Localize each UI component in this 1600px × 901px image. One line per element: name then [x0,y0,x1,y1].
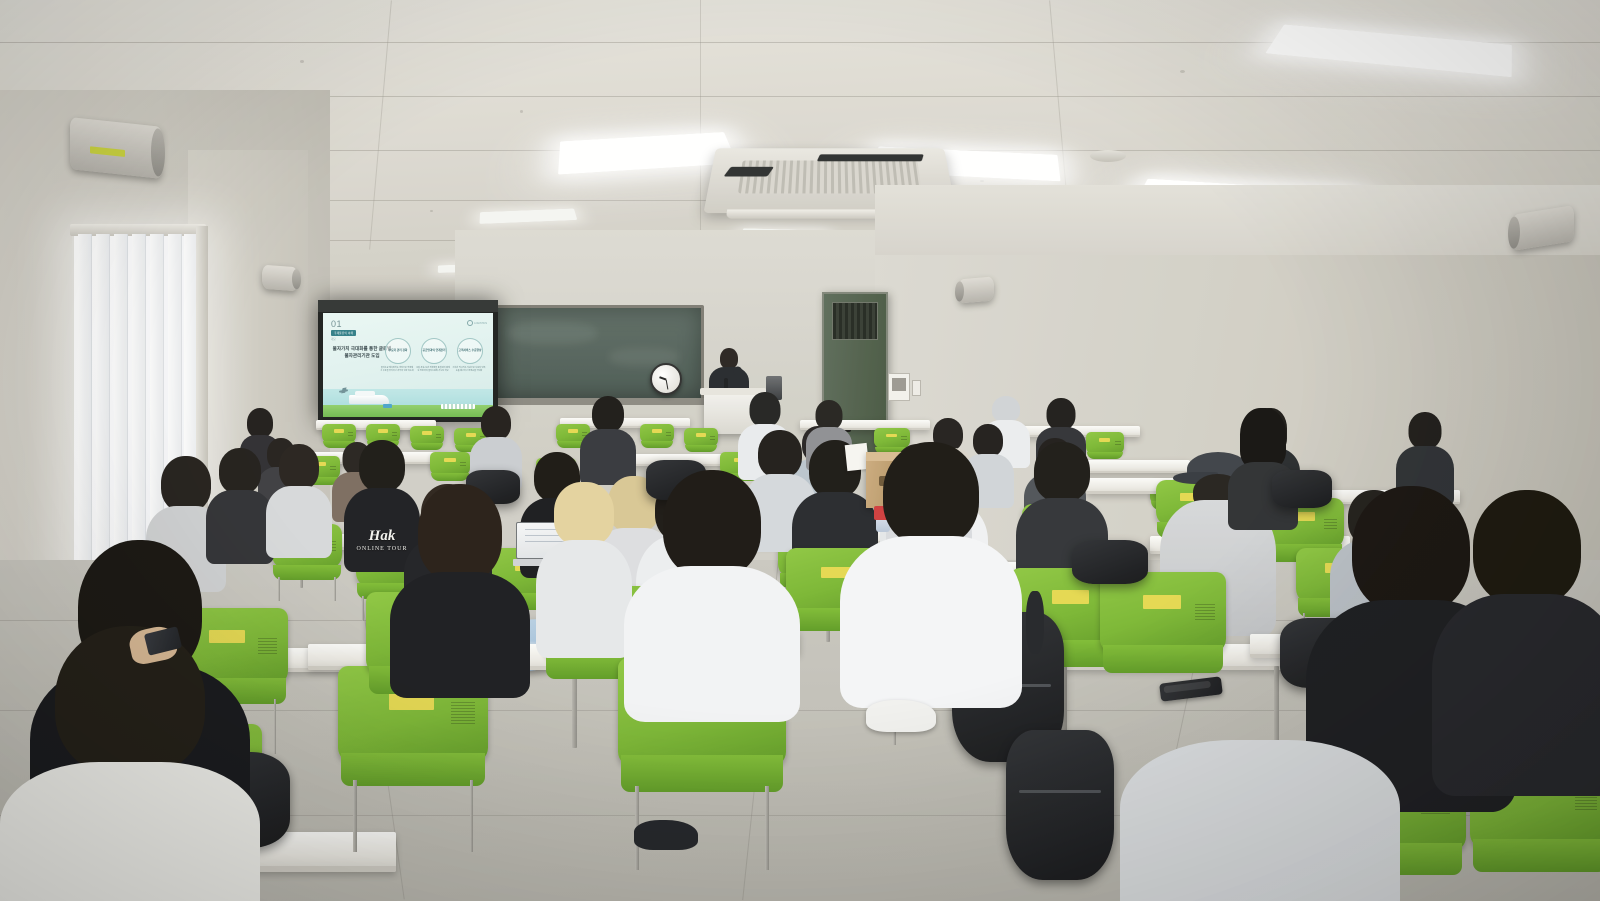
lecture-hall-photo: 01 국제물류의 이해 개요 물자가치 극대화를 통한 글로벌 물자관리기관 도… [0,0,1600,901]
chair[interactable] [640,424,674,454]
wall-speaker [70,117,162,179]
slide-desc-3: 신속한 적시적소 지원으로 사용자 만족도를 제고하고 운영효율 극대화 [452,367,486,373]
chair[interactable] [1100,572,1226,698]
audience-member [536,482,632,652]
wall-clock [650,363,682,395]
shoe [866,700,936,732]
slide-truck-icon [383,404,392,408]
slide-ship-icon [349,395,389,404]
slide-circle-3: 고객서비스 수준향상 [457,338,483,364]
slide-circle-1: 수요자 관리 강화 [385,338,411,364]
audience-member [1120,740,1400,901]
slide-logo: LOGISTICS [467,320,487,326]
slide-logo-text: LOGISTICS [474,322,487,325]
slide-circle-2: 공급망과의 연계관리 [421,338,447,364]
slide-circle-3-label: 고객서비스 수준향상 [459,349,482,352]
backpack [1072,540,1148,584]
slide-desc-2: 조달·운송·보관 전과정을 통합관리 체계로 전환하여 물자흐름의 가시성 확보 [416,367,450,373]
door-window [832,302,878,340]
slide-number: 01 [331,319,342,329]
wall-speaker [958,276,994,303]
audience-member [0,626,260,901]
projection-screen: 01 국제물류의 이해 개요 물자가치 극대화를 통한 글로벌 물자관리기관 도… [318,300,498,422]
wall-control-panel[interactable] [888,373,910,401]
logo-icon [467,320,473,326]
audience-member [266,444,332,552]
audience-member [624,470,800,710]
audience-member [1228,408,1298,526]
chair[interactable] [430,452,470,488]
audience-member [840,442,1022,702]
screen-valance [318,300,498,312]
audience-member [1432,490,1600,790]
shoe [634,820,698,850]
slide-circle-1-label: 수요자 관리 강화 [389,349,408,352]
ceiling-vent [1090,150,1126,162]
backpack [1006,730,1114,880]
wall-speaker [262,265,298,292]
right-wall-upper-band [875,185,1600,255]
slide-desc-1: 물자소요 예측정확도 향상으로 적정재고 수준을 유지하고 과부족 현상 최소화 [380,367,414,373]
slide-title: 물자가치 극대화를 통한 글로벌 물자관리기관 도입 [331,345,393,359]
slide-circle-2-label: 공급망과의 연계관리 [423,349,446,352]
audience-member [390,484,530,684]
light-switch[interactable] [912,380,921,396]
presentation-slide: 01 국제물류의 이해 개요 물자가치 극대화를 통한 글로벌 물자관리기관 도… [323,313,493,417]
slide-sub-label: 개요 [331,337,336,341]
slide-badge: 국제물류의 이해 [331,330,356,336]
